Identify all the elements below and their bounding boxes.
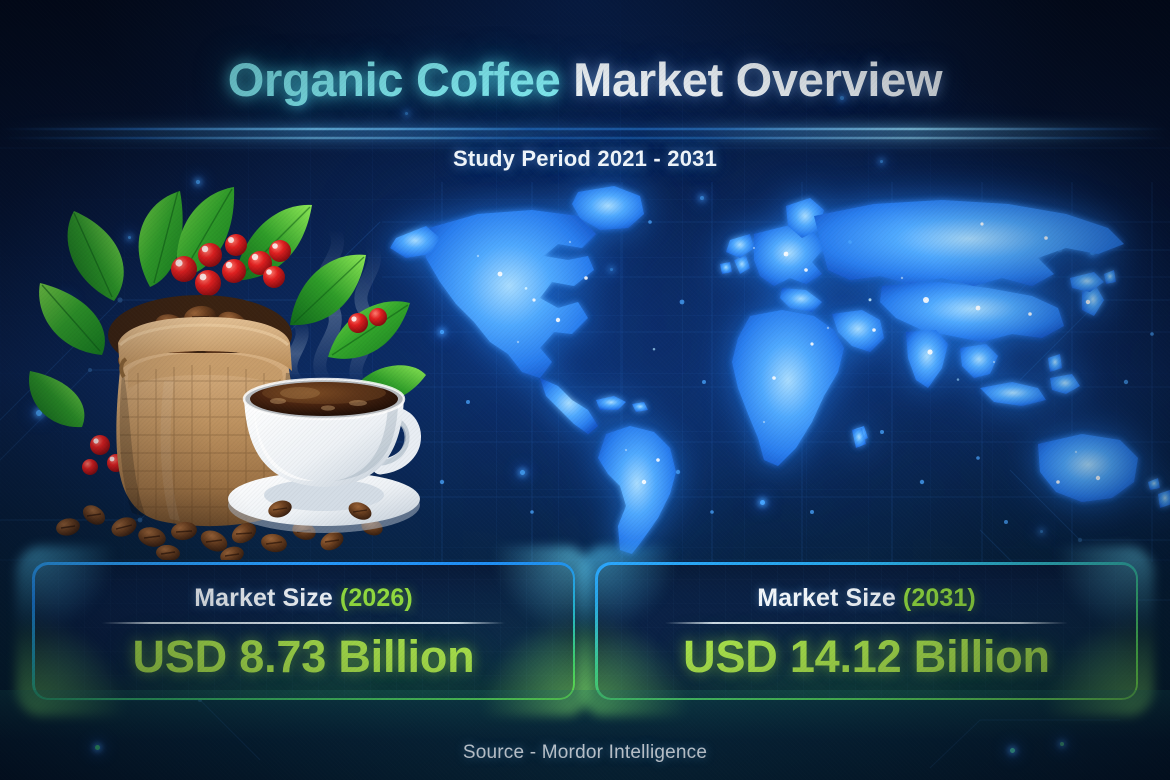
card-label: Market Size (2026) (194, 584, 413, 613)
card-label-text: Market Size (757, 584, 903, 612)
card-label-year: (2026) (340, 584, 413, 612)
card-divider (102, 622, 505, 624)
market-size-card-2031: Market Size (2031) USD 14.12 Billion (595, 562, 1138, 700)
coffee-sack-and-cup-illustration (28, 175, 428, 560)
card-value: USD 14.12 Billion (683, 631, 1050, 683)
market-size-cards: Market Size (2026) USD 8.73 Billion Mark… (32, 562, 1138, 700)
title-light-streak-2 (0, 137, 1170, 139)
page-title-highlight: Organic Coffee (228, 53, 561, 106)
market-size-card-2026: Market Size (2026) USD 8.73 Billion (32, 562, 575, 700)
page-title: Organic Coffee Market Overview (0, 52, 1170, 107)
page-title-plain: Market Overview (560, 53, 942, 106)
study-period-subtitle: Study Period 2021 - 2031 (0, 146, 1170, 172)
card-value: USD 8.73 Billion (133, 631, 475, 683)
source-attribution: Source - Mordor Intelligence (0, 742, 1170, 764)
card-label-year: (2031) (903, 584, 976, 612)
world-map (382, 182, 1170, 562)
card-label-text: Market Size (194, 584, 340, 612)
card-label: Market Size (2031) (757, 584, 976, 613)
infographic-root: Organic Coffee Market Overview Study Per… (0, 0, 1170, 780)
footer-glow (0, 690, 1170, 780)
card-divider (665, 622, 1068, 624)
title-light-streak-1 (0, 128, 1170, 130)
